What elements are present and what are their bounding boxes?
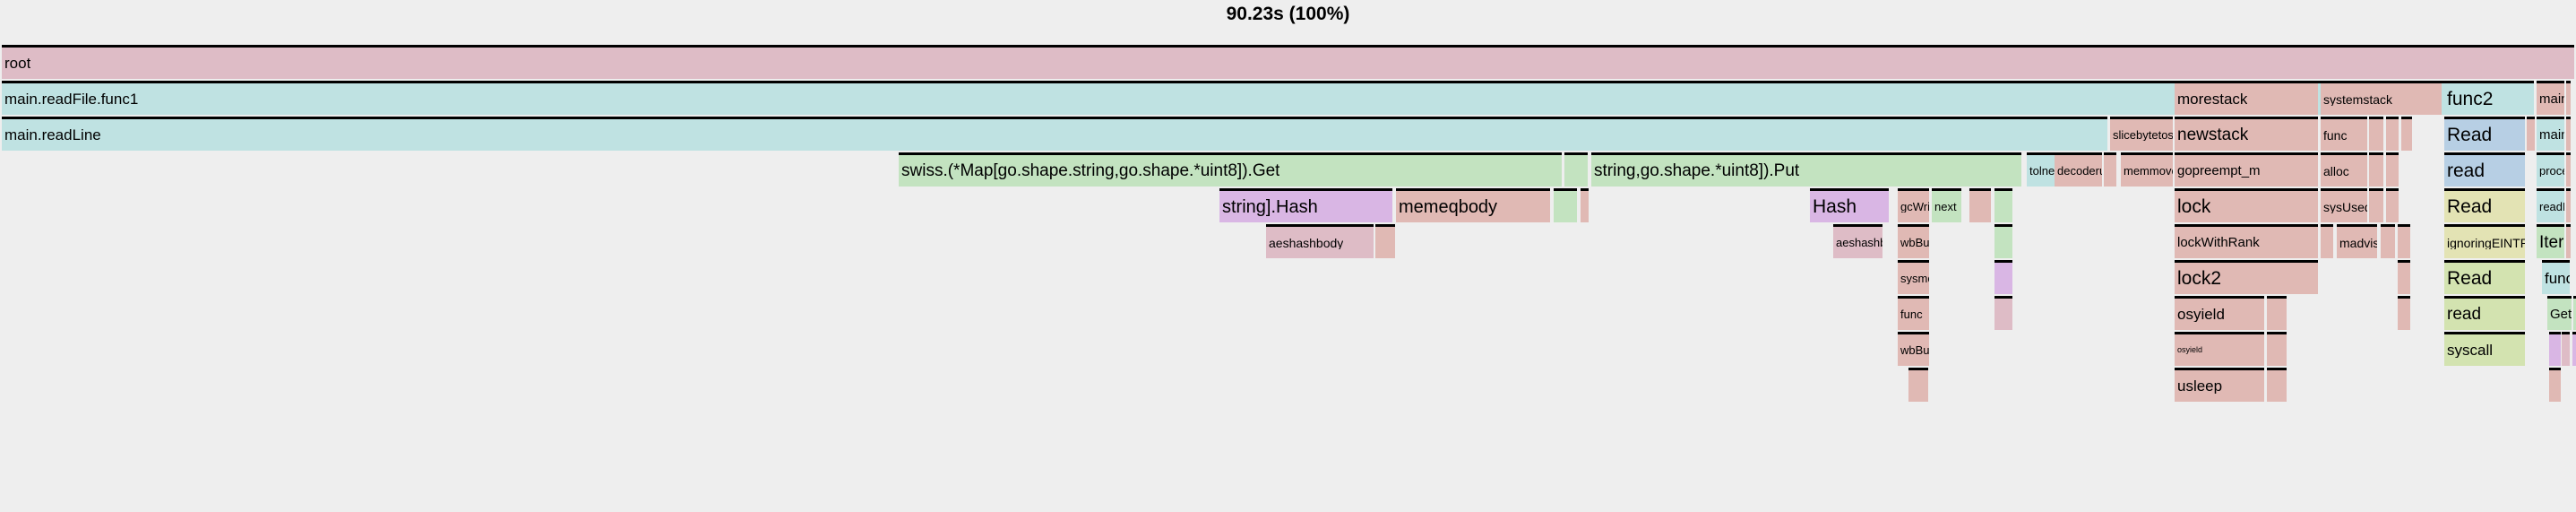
flame-frame[interactable]: newstack <box>2175 117 2318 151</box>
flame-frame-label: sysmon <box>1900 273 1929 284</box>
flame-frame[interactable]: systemstack <box>2321 81 2442 115</box>
flame-frame[interactable]: string].Hash <box>1219 188 1392 222</box>
flame-frame[interactable] <box>2267 296 2287 330</box>
flame-frame-label: syscall <box>2447 343 2493 358</box>
flame-frame[interactable] <box>2386 117 2399 151</box>
flame-frame[interactable] <box>2398 260 2410 294</box>
flame-frame-label: string].Hash <box>1222 198 1318 216</box>
flame-frame[interactable]: madvise <box>2337 224 2377 258</box>
flame-frame-label: main.readLine <box>4 127 101 143</box>
flame-frame[interactable]: wbBufFlush <box>1898 224 1929 258</box>
flame-frame-label: newstack <box>2177 126 2248 143</box>
flame-frame[interactable] <box>1994 260 2012 294</box>
flame-frame[interactable]: gopreempt_m <box>2175 152 2318 187</box>
flame-frame[interactable] <box>2267 368 2287 402</box>
flame-frame[interactable]: wbBufFlush1 <box>1898 332 1929 366</box>
flame-frame[interactable] <box>2386 152 2399 187</box>
flame-frame[interactable]: read <box>2444 296 2525 330</box>
flame-frame[interactable] <box>1969 188 1991 222</box>
flame-frame-label: func <box>1900 308 1923 320</box>
flame-frame[interactable] <box>2381 224 2395 258</box>
flame-frame[interactable] <box>2398 296 2410 330</box>
flame-frame-label: morestack <box>2177 91 2247 107</box>
flame-frame[interactable] <box>2369 117 2383 151</box>
flame-frame-label: main <box>2539 128 2564 142</box>
flame-frame[interactable]: ignoringEINTRIO <box>2444 224 2525 258</box>
flame-frame-label: read <box>2447 306 2481 323</box>
flame-frame[interactable] <box>1375 224 1395 258</box>
flame-frame[interactable] <box>2566 188 2571 222</box>
flame-frame[interactable] <box>2566 152 2571 187</box>
flame-frame[interactable]: memeqbody <box>1396 188 1550 222</box>
flame-frame[interactable]: func <box>2321 117 2367 151</box>
flame-frame-label: alloc <box>2323 165 2349 178</box>
flame-frame[interactable]: usleep <box>2175 368 2264 402</box>
flame-frame[interactable] <box>2321 224 2333 258</box>
flame-frame[interactable] <box>2104 152 2116 187</box>
flame-frame[interactable]: memmove <box>2121 152 2173 187</box>
flame-frame[interactable]: syscall <box>2444 332 2525 366</box>
flame-frame[interactable] <box>2572 332 2576 366</box>
flame-frame[interactable] <box>2527 117 2535 151</box>
flame-frame[interactable] <box>2369 188 2383 222</box>
flame-frame-label: swiss.(*Map[go.shape.string,go.shape.*ui… <box>901 162 1279 179</box>
flame-frame[interactable]: read <box>2444 152 2525 187</box>
flame-frame-label: wbBufFlush <box>1900 237 1929 248</box>
flame-frame[interactable]: main <box>2537 117 2564 151</box>
flame-frame[interactable] <box>1994 296 2012 330</box>
flame-frame-label: readFile <box>2539 201 2564 213</box>
flame-frame-label: systemstack <box>2323 93 2392 106</box>
flame-frame[interactable] <box>2386 188 2399 222</box>
flame-frame-label: usleep <box>2177 378 2222 394</box>
flame-frame-label: gcWriteBarrier <box>1900 201 1929 213</box>
flame-frame-label: memeqbody <box>1399 198 1497 216</box>
flame-frame-label: ignoringEINTRIO <box>2447 237 2525 249</box>
flame-frame[interactable]: Hash <box>1810 188 1889 222</box>
flame-frame[interactable] <box>1564 152 1588 187</box>
flame-frame-label: slicebytetostring <box>2113 129 2173 141</box>
flame-frame[interactable]: sysUsed <box>2321 188 2367 222</box>
flame-frame-label: Hash <box>1813 197 1857 216</box>
flame-frame[interactable] <box>2566 117 2571 151</box>
flame-frame-label: sysUsed <box>2323 201 2367 213</box>
flame-frame-label: next <box>1934 201 1957 213</box>
flame-frame[interactable]: func2 <box>2444 81 2534 115</box>
flame-frame[interactable]: aeshashbody <box>1266 224 1374 258</box>
flame-frame-label: string,go.shape.*uint8]).Put <box>1594 162 1799 179</box>
flame-frame-label: read <box>2447 161 2485 180</box>
flame-frame-label: Get <box>2550 308 2572 321</box>
flame-frame[interactable]: readFile <box>2537 188 2564 222</box>
flame-frame-label: aeshashbody <box>1836 237 1882 248</box>
flame-frame[interactable]: lock <box>2175 188 2318 222</box>
flame-frame-label: root <box>4 56 30 71</box>
flame-frame-label: Read <box>2447 269 2492 288</box>
flame-frame[interactable] <box>2566 81 2571 115</box>
flame-frame-label: process <box>2539 165 2564 177</box>
flame-frame-label: main <box>2539 92 2564 106</box>
flame-frame[interactable]: osyield <box>2175 332 2264 366</box>
flame-frame[interactable]: Read <box>2444 188 2525 222</box>
flame-frame[interactable]: Read <box>2444 117 2525 151</box>
flame-frame-label: Read <box>2447 126 2492 144</box>
flame-frame[interactable]: lock2 <box>2175 260 2318 294</box>
flame-frame[interactable]: sysmon <box>1898 260 1929 294</box>
flame-frame[interactable] <box>2549 332 2561 366</box>
flame-frame-label: osyield <box>2177 346 2202 354</box>
flame-frame[interactable] <box>2369 152 2383 187</box>
flame-frame-label: wbBufFlush1 <box>1900 344 1929 356</box>
flame-frame-label: func <box>2323 129 2347 142</box>
flame-frame[interactable]: gcWriteBarrier <box>1898 188 1929 222</box>
flame-frame[interactable]: Read <box>2444 260 2525 294</box>
flame-frame-label: lock <box>2177 197 2210 216</box>
flame-frame-label: osyield <box>2177 307 2225 322</box>
flame-frame-label: Iter <box>2539 234 2563 251</box>
flame-frame[interactable] <box>2398 224 2410 258</box>
flamegraph-title: 90.23s (100%) <box>0 4 2576 25</box>
flame-frame[interactable]: string,go.shape.*uint8]).Put <box>1591 152 2021 187</box>
flame-frame[interactable] <box>1994 188 2012 222</box>
flame-frame[interactable]: root <box>2 45 2574 79</box>
flame-frame[interactable]: func <box>1898 296 1929 330</box>
flame-frame[interactable] <box>1554 188 1577 222</box>
flame-frame[interactable] <box>1908 368 1928 402</box>
flame-frame[interactable]: main.readLine <box>2 117 2107 151</box>
flamegraph-canvas[interactable]: 90.23s (100%) rootmain.readFile.func1mai… <box>0 0 2576 512</box>
flame-frame-label: lockWithRank <box>2177 236 2260 249</box>
flame-frame[interactable] <box>2401 117 2412 151</box>
flame-frame[interactable]: next <box>1932 188 1961 222</box>
flame-frame[interactable]: slicebytetostring <box>2110 117 2173 151</box>
flame-frame-label: aeshashbody <box>1269 237 1343 249</box>
flame-frame[interactable]: Iter <box>2537 224 2564 258</box>
flame-frame[interactable]: main.readFile.func1 <box>2 81 2513 115</box>
flame-frame[interactable]: alloc <box>2321 152 2367 187</box>
flame-frame[interactable] <box>2562 332 2570 366</box>
flame-frame-label: madvise <box>2339 237 2377 249</box>
flame-frame[interactable] <box>1581 188 1589 222</box>
flame-frame[interactable] <box>2267 332 2287 366</box>
flame-frame[interactable] <box>2549 368 2561 402</box>
flame-frame-label: gopreempt_m <box>2177 164 2261 178</box>
flame-frame[interactable]: morestack <box>2175 81 2318 115</box>
flame-frame[interactable]: main <box>2537 81 2564 115</box>
flame-frame[interactable]: aeshashbody <box>1833 224 1882 258</box>
flame-frame[interactable]: func3 <box>2542 260 2570 294</box>
flame-frame-label: memmove <box>2124 165 2173 177</box>
flame-frame-label: decoderune <box>2057 165 2102 177</box>
flame-frame[interactable] <box>2566 224 2571 258</box>
flame-frame-label: lock2 <box>2177 269 2221 288</box>
flame-frame[interactable] <box>1994 224 2012 258</box>
flame-frame[interactable]: lockWithRank <box>2175 224 2318 258</box>
flame-frame-label: func2 <box>2447 90 2493 108</box>
flame-frame[interactable]: Get <box>2547 296 2572 330</box>
flame-frame[interactable]: decoderune <box>2055 152 2102 187</box>
flame-frame[interactable]: process <box>2537 152 2564 187</box>
flame-frame[interactable]: osyield <box>2175 296 2264 330</box>
flame-frame-label: Read <box>2447 197 2492 216</box>
flame-frame-label: main.readFile.func1 <box>4 91 138 107</box>
flame-frame[interactable]: swiss.(*Map[go.shape.string,go.shape.*ui… <box>899 152 1562 187</box>
flame-frame-label: func3 <box>2545 271 2570 286</box>
